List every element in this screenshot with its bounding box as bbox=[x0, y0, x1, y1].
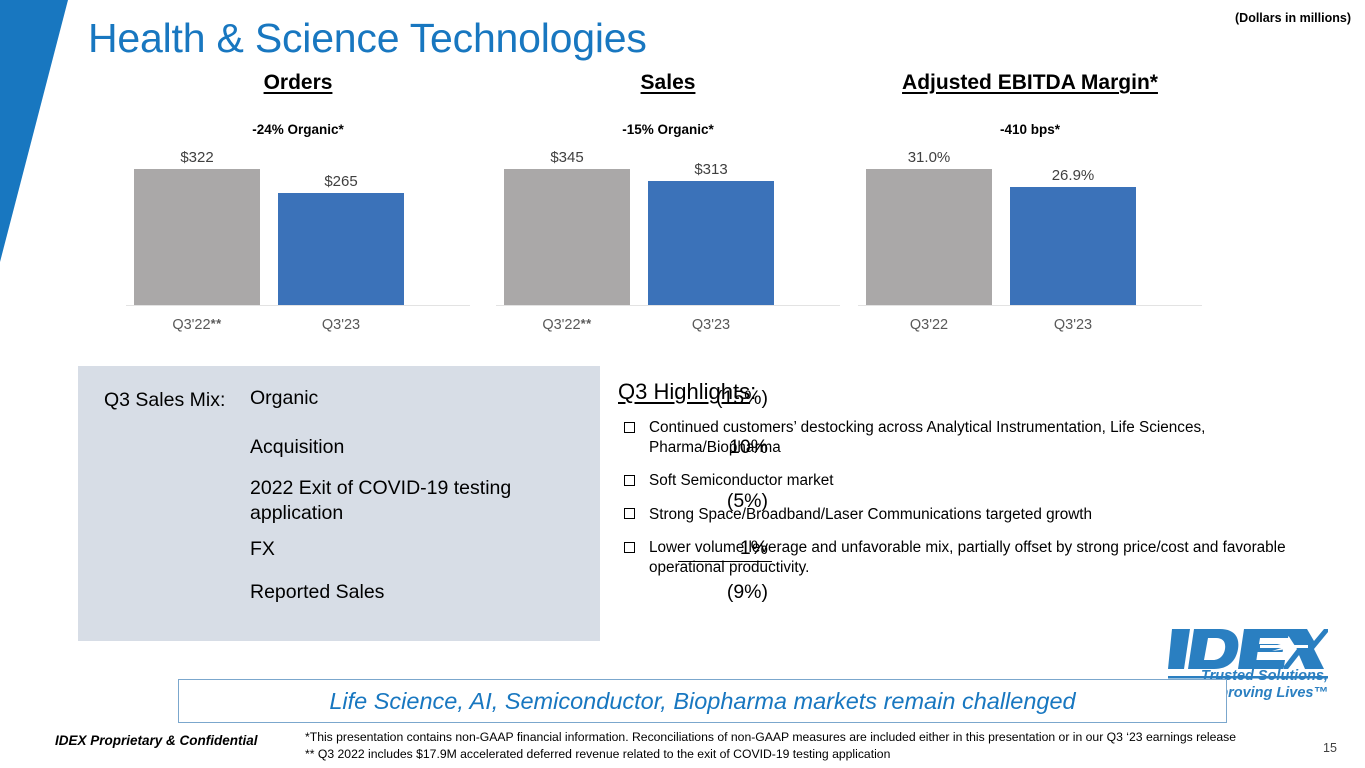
chart-subtitle: -24% Organic* bbox=[118, 122, 478, 138]
highlight-item: Lower volume leverage and unfavorable mi… bbox=[618, 538, 1298, 577]
bar-Q323 bbox=[1010, 187, 1136, 305]
bar-value-label: $313 bbox=[648, 161, 774, 178]
bar-Q323 bbox=[278, 193, 404, 305]
footnote-1: *This presentation contains non-GAAP fin… bbox=[305, 729, 1295, 746]
bar-Q323 bbox=[648, 181, 774, 305]
confidentiality-notice: IDEX Proprietary & Confidential bbox=[55, 733, 258, 748]
bar-value-label: $265 bbox=[278, 173, 404, 190]
sales-mix-panel: Q3 Sales Mix: Organic(15%)Acquisition10%… bbox=[78, 366, 600, 641]
sales-mix-row-name: Organic bbox=[250, 386, 318, 411]
chart-title: Orders bbox=[118, 70, 478, 96]
sales-mix-row-name: 2022 Exit of COVID-19 testing applicatio… bbox=[250, 476, 550, 526]
highlight-item-text: Continued customers’ destocking across A… bbox=[649, 419, 1205, 456]
chart-baseline bbox=[496, 305, 840, 306]
summary-banner: Life Science, AI, Semiconductor, Biophar… bbox=[178, 679, 1227, 723]
square-bullet-icon bbox=[624, 422, 635, 433]
chart-baseline bbox=[126, 305, 470, 306]
bar-Q322 bbox=[866, 169, 992, 305]
square-bullet-icon bbox=[624, 508, 635, 519]
highlights-title: Q3 Highlights: bbox=[618, 378, 756, 406]
chart-baseline bbox=[858, 305, 1202, 306]
square-bullet-icon bbox=[624, 475, 635, 486]
chart-plot-area: 31.0%Q3'2226.9%Q3'23 bbox=[850, 146, 1210, 336]
chart-title: Sales bbox=[488, 70, 848, 96]
bar-Q322 bbox=[504, 169, 630, 305]
chart-subtitle: -15% Organic* bbox=[488, 122, 848, 138]
slide: Health & Science Technologies (Dollars i… bbox=[0, 0, 1365, 768]
bar-category-label: Q3'23 bbox=[648, 317, 774, 333]
sales-mix-row-name: FX bbox=[250, 537, 275, 562]
bar-Q322 bbox=[134, 169, 260, 305]
sales-mix-row-name: Acquisition bbox=[250, 435, 344, 460]
highlights-section: Q3 Highlights: Continued customers’ dest… bbox=[618, 378, 1298, 591]
sales-mix-row-name: Reported Sales bbox=[250, 580, 384, 605]
square-bullet-icon bbox=[624, 542, 635, 553]
highlight-item-text: Strong Space/Broadband/Laser Communicati… bbox=[649, 506, 1092, 523]
bar-value-label: $345 bbox=[504, 149, 630, 166]
chart-orders: Orders -24% Organic* $322Q3'22**$265Q3'2… bbox=[118, 70, 478, 360]
highlights-title-suffix: : bbox=[750, 379, 756, 404]
highlights-title-text: Q3 Highlights bbox=[618, 379, 750, 404]
page-number: 15 bbox=[1323, 741, 1337, 755]
highlight-item-text: Lower volume leverage and unfavorable mi… bbox=[649, 539, 1286, 576]
bar-category-label: Q3'23 bbox=[1010, 317, 1136, 333]
footnote-2: ** Q3 2022 includes $17.9M accelerated d… bbox=[305, 746, 1295, 763]
bar-category-label: Q3'22 bbox=[866, 317, 992, 333]
page-title: Health & Science Technologies bbox=[88, 12, 647, 64]
summary-banner-text: Life Science, AI, Semiconductor, Biophar… bbox=[329, 688, 1075, 715]
units-note: (Dollars in millions) bbox=[1235, 11, 1351, 25]
bar-value-label: 26.9% bbox=[1010, 167, 1136, 184]
bar-value-label: $322 bbox=[134, 149, 260, 166]
chart-adjusted-ebitda-margin: Adjusted EBITDA Margin* -410 bps* 31.0%Q… bbox=[850, 70, 1210, 360]
highlight-item: Soft Semiconductor market bbox=[618, 471, 1298, 491]
chart-sales: Sales -15% Organic* $345Q3'22**$313Q3'23 bbox=[488, 70, 848, 360]
bar-category-label: Q3'23 bbox=[278, 317, 404, 333]
chart-plot-area: $322Q3'22**$265Q3'23 bbox=[118, 146, 478, 336]
highlight-item: Strong Space/Broadband/Laser Communicati… bbox=[618, 505, 1298, 525]
chart-subtitle: -410 bps* bbox=[850, 122, 1210, 138]
highlight-item-text: Soft Semiconductor market bbox=[649, 472, 834, 489]
highlights-list: Continued customers’ destocking across A… bbox=[618, 418, 1298, 577]
footnotes: *This presentation contains non-GAAP fin… bbox=[305, 729, 1295, 763]
sales-mix-label: Q3 Sales Mix: bbox=[104, 389, 225, 412]
bar-value-label: 31.0% bbox=[866, 149, 992, 166]
highlight-item: Continued customers’ destocking across A… bbox=[618, 418, 1298, 457]
chart-title: Adjusted EBITDA Margin* bbox=[850, 70, 1210, 96]
bar-category-label: Q3'22** bbox=[504, 317, 630, 333]
chart-plot-area: $345Q3'22**$313Q3'23 bbox=[488, 146, 848, 336]
bar-category-label: Q3'22** bbox=[134, 317, 260, 333]
corner-wedge-decoration bbox=[0, 0, 75, 262]
